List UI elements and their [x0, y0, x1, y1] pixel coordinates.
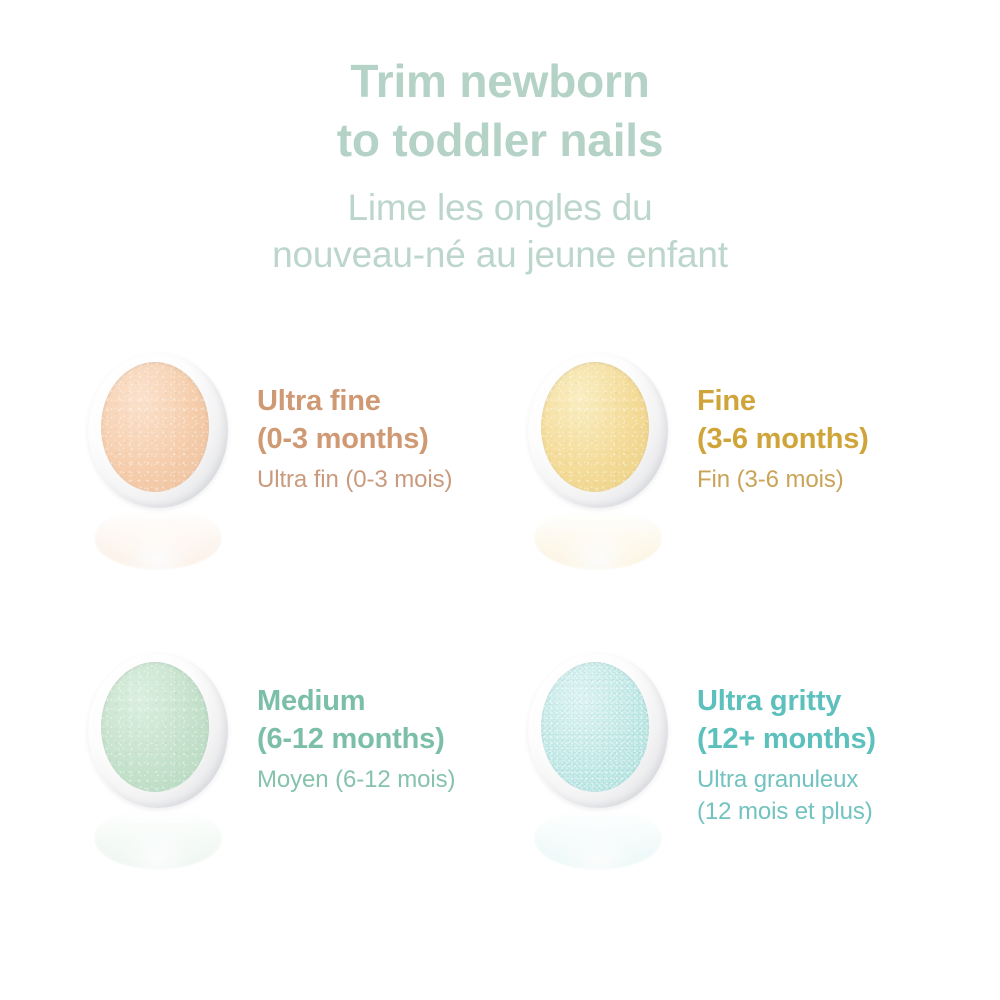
product-grid: Ultra fine (0-3 months) Ultra fin (0-3 m…	[0, 345, 1000, 945]
abrasive-pad-icon	[101, 662, 209, 792]
product-name-en: Fine (3-6 months)	[697, 383, 869, 458]
product-card-fine[interactable]: Fine (3-6 months) Fin (3-6 mois)	[520, 345, 960, 645]
heading-block: Trim newborn to toddler nails Lime les o…	[0, 52, 1000, 278]
abrasive-pad-icon	[101, 362, 209, 492]
product-name-en: Medium (6-12 months)	[257, 683, 455, 758]
product-card-ultra-fine[interactable]: Ultra fine (0-3 months) Ultra fin (0-3 m…	[80, 345, 520, 645]
disc-white-rim	[88, 353, 228, 508]
product-name-en: Ultra gritty (12+ months)	[697, 683, 876, 758]
disc-white-rim	[528, 353, 668, 508]
product-name-fr: Moyen (6-12 mois)	[257, 764, 455, 796]
abrasive-pad-icon	[541, 362, 649, 492]
page-subtitle-french: Lime les ongles du nouveau-né au jeune e…	[0, 184, 1000, 279]
product-label-fine: Fine (3-6 months) Fin (3-6 mois)	[697, 345, 869, 496]
disc-white-rim	[88, 653, 228, 808]
product-label-ultra-fine: Ultra fine (0-3 months) Ultra fin (0-3 m…	[257, 345, 452, 496]
product-disc-ultra-gritty	[520, 645, 675, 845]
disc-white-rim	[528, 653, 668, 808]
product-label-medium: Medium (6-12 months) Moyen (6-12 mois)	[257, 645, 455, 796]
product-disc-ultra-fine	[80, 345, 235, 545]
disc-reflection	[94, 808, 222, 870]
product-disc-medium	[80, 645, 235, 845]
product-label-ultra-gritty: Ultra gritty (12+ months) Ultra granuleu…	[697, 645, 876, 828]
product-name-en: Ultra fine (0-3 months)	[257, 383, 452, 458]
product-name-fr: Ultra granuleux (12 mois et plus)	[697, 764, 876, 827]
product-card-medium[interactable]: Medium (6-12 months) Moyen (6-12 mois)	[80, 645, 520, 945]
product-card-ultra-gritty[interactable]: Ultra gritty (12+ months) Ultra granuleu…	[520, 645, 960, 945]
disc-reflection	[534, 508, 662, 570]
page-title: Trim newborn to toddler nails	[0, 52, 1000, 170]
product-name-fr: Fin (3-6 mois)	[697, 464, 869, 496]
product-name-fr: Ultra fin (0-3 mois)	[257, 464, 452, 496]
product-row-top: Ultra fine (0-3 months) Ultra fin (0-3 m…	[0, 345, 1000, 645]
product-disc-fine	[520, 345, 675, 545]
abrasive-pad-icon	[541, 662, 649, 792]
infographic-poster: Trim newborn to toddler nails Lime les o…	[0, 0, 1000, 1000]
disc-reflection	[534, 808, 662, 870]
disc-reflection	[94, 508, 222, 570]
product-row-bottom: Medium (6-12 months) Moyen (6-12 mois) U…	[0, 645, 1000, 945]
